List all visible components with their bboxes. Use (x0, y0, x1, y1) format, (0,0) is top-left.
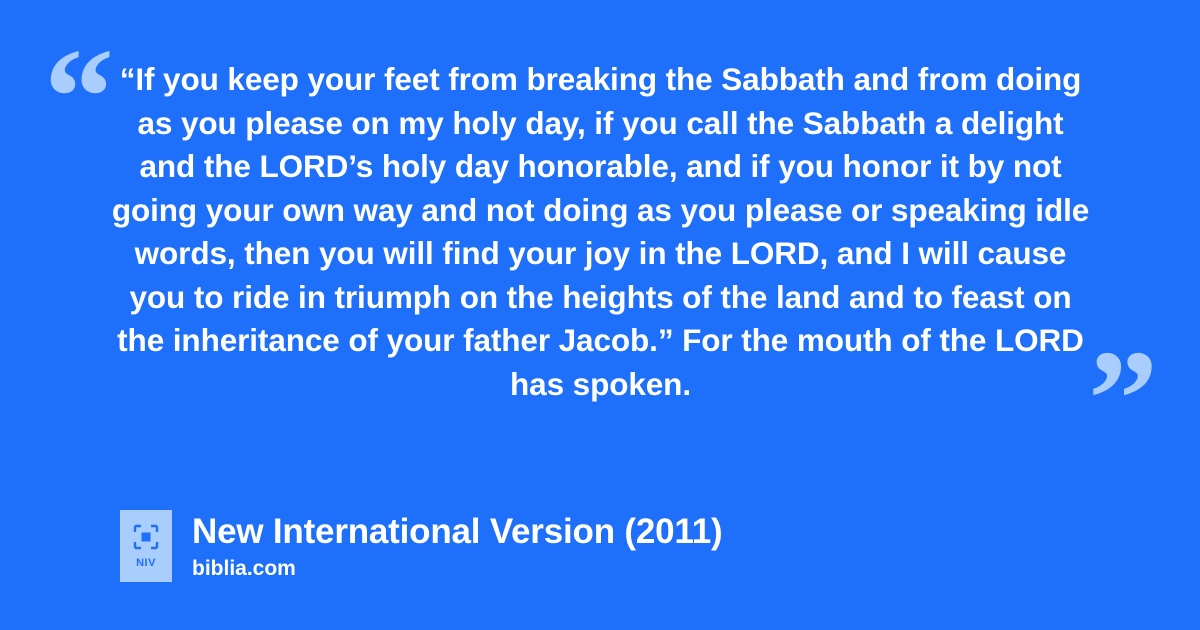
verse-text: “If you keep your feet from breaking the… (108, 58, 1093, 406)
badge-label: NIV (136, 557, 156, 569)
site-url[interactable]: biblia.com (192, 558, 722, 580)
bible-book-icon (133, 524, 159, 550)
bible-version-title: New International Version (2011) (192, 513, 722, 551)
closing-quote-icon: ” (1088, 330, 1158, 470)
footer: NIV New International Version (2011) bib… (120, 510, 722, 582)
bible-version-badge: NIV (120, 510, 172, 582)
opening-quote-icon: “ (44, 28, 114, 168)
verse-card: “ “If you keep your feet from breaking t… (0, 0, 1200, 630)
footer-text: New International Version (2011) biblia.… (192, 510, 722, 582)
